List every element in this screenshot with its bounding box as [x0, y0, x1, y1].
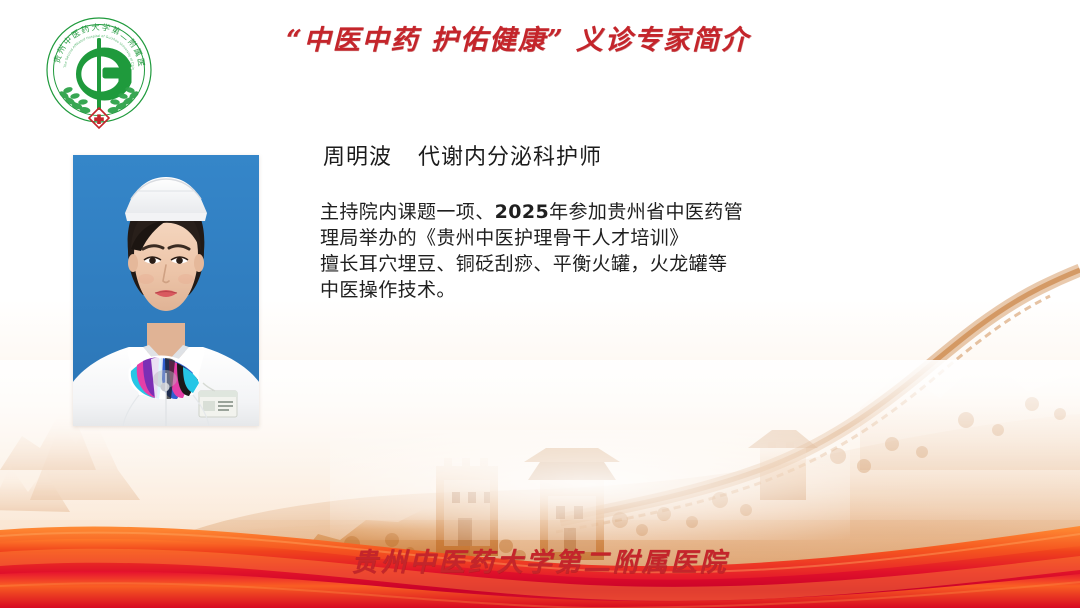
bio-year-emphasis: 2025: [495, 201, 549, 223]
profile-name-line: 周明波代谢内分泌科护师: [323, 139, 602, 171]
nurse-cap: [125, 177, 207, 221]
bio-line-2: 理局举办的《贵州中医护理骨干人才培训》: [320, 225, 790, 251]
logo-cross-icon: [89, 108, 109, 128]
profile-position: 代谢内分泌科护师: [418, 145, 602, 170]
slide-canvas: 贵州中医药大学第二附属医院 The Second Affiliated Hosp…: [0, 0, 1080, 608]
mountain-ridge-right: [860, 356, 1080, 470]
profile-bio: 主持院内课题一项、2025年参加贵州省中医药管 理局举办的《贵州中医护理骨干人才…: [320, 199, 790, 303]
logo-monogram: [78, 50, 129, 98]
portrait-photo: [73, 155, 259, 426]
bio-line-3: 擅长耳穴埋豆、铜砭刮痧、平衡火罐，火龙罐等: [320, 251, 790, 277]
footer-hospital-name: 贵州中医药大学第二附属医院: [0, 542, 1080, 579]
page-title: “中医中药 护佑健康” 义诊专家简介: [283, 18, 753, 57]
portrait-figure: [73, 155, 259, 426]
bio-line-4: 中医操作技术。: [320, 277, 790, 303]
profile-name: 周明波: [323, 145, 392, 170]
bio-line-1-text: 主持院内课题一项、2025年参加贵州省中医药管: [320, 201, 743, 223]
bio-line-1: 主持院内课题一项、2025年参加贵州省中医药管: [320, 199, 790, 225]
hospital-logo: 贵州中医药大学第二附属医院 The Second Affiliated Hosp…: [33, 8, 165, 140]
